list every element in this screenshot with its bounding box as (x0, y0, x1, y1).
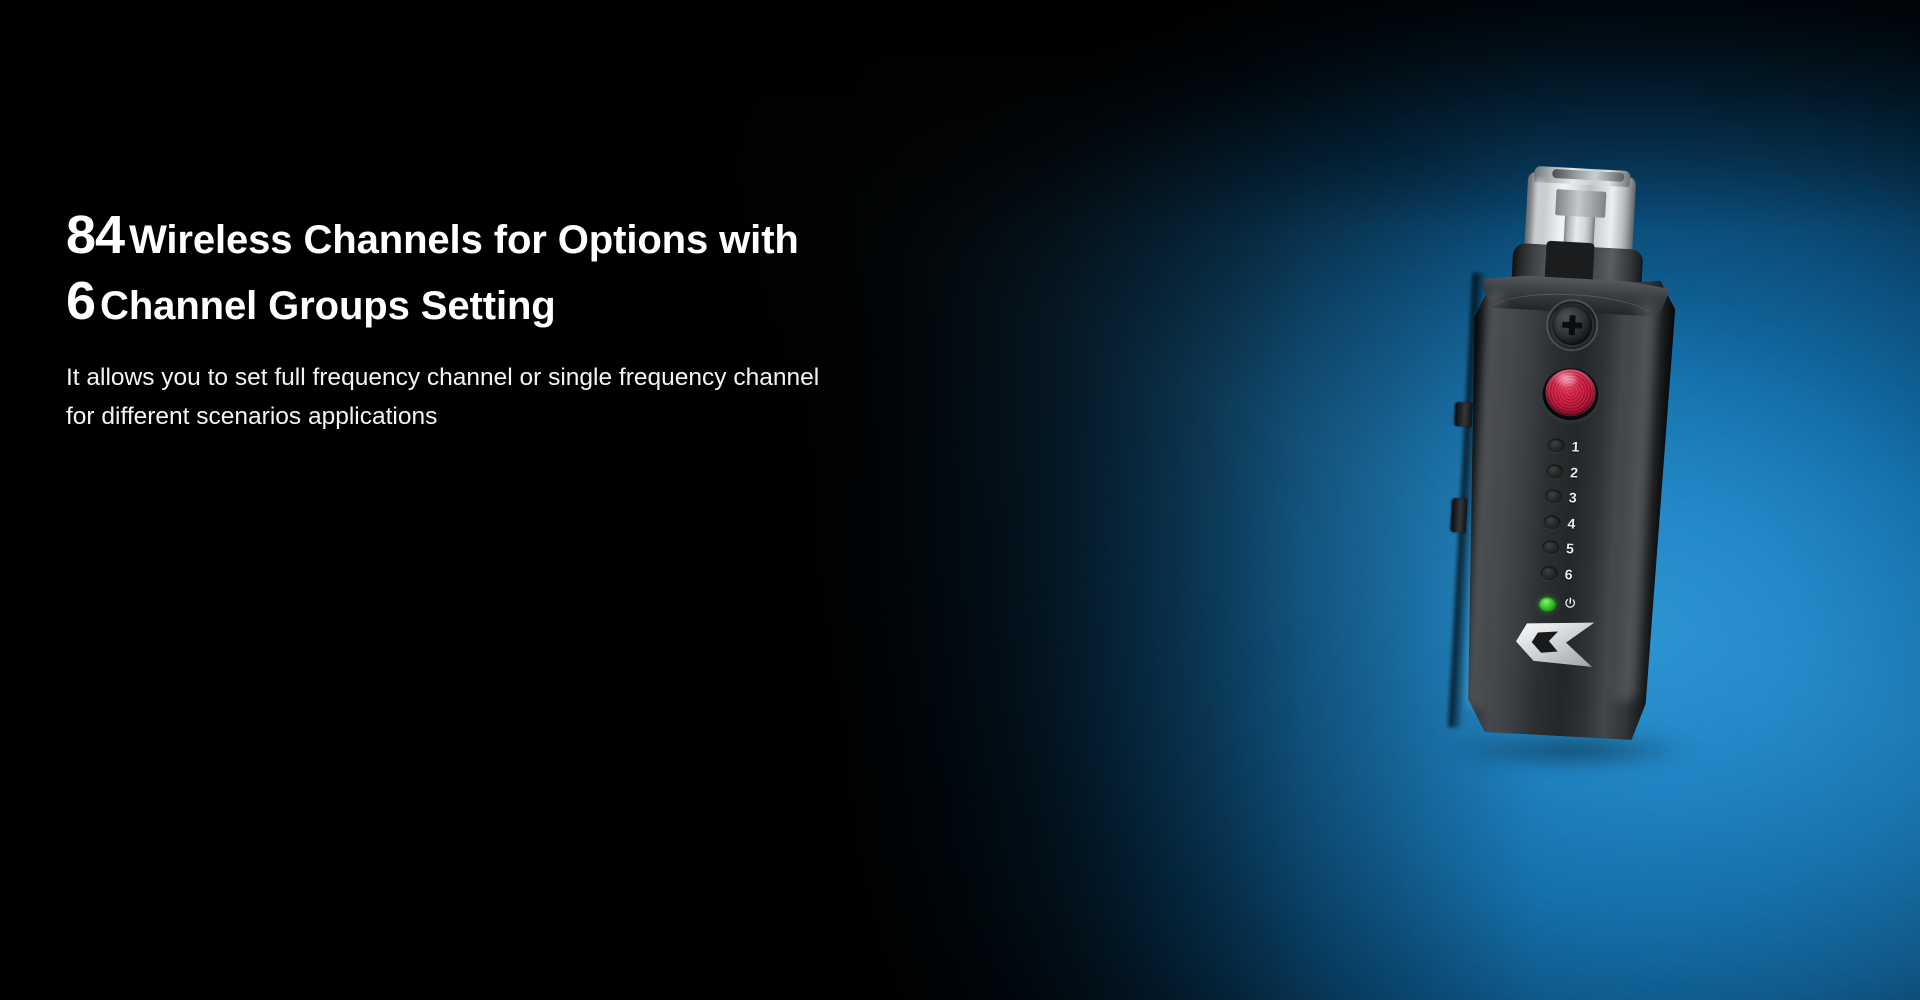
channel-led-5-indicator (1542, 540, 1560, 555)
led-row-6: 6 (1540, 562, 1631, 592)
headline-text-1: Wireless Channels for Options with (129, 218, 799, 262)
headline-line-2: 6Channel Groups Setting (66, 271, 1066, 336)
channel-led-3-indicator (1545, 489, 1563, 504)
channel-led-panel: 1 2 3 4 5 6 (1538, 435, 1638, 625)
headline-line-1: 84Wireless Channels for Options with (66, 205, 1066, 270)
subtext-block: It allows you to set full frequency chan… (66, 358, 1026, 436)
power-led-indicator (1539, 597, 1557, 612)
xlr-top-inner-ring (1552, 169, 1624, 182)
channel-led-6-label: 6 (1564, 564, 1573, 584)
channel-led-3-label: 3 (1568, 487, 1577, 507)
channel-led-5-label: 5 (1566, 538, 1575, 558)
wireless-transmitter-device: 1 2 3 4 5 6 (1439, 162, 1690, 753)
channel-led-4-indicator (1543, 514, 1561, 529)
headline-number-84: 84 (66, 205, 124, 265)
k-brand-logo-icon (1512, 615, 1601, 670)
promo-banner: 84Wireless Channels for Options with 6Ch… (0, 0, 1920, 1000)
headline-number-6: 6 (66, 271, 95, 331)
channel-led-2-label: 2 (1570, 462, 1579, 482)
subtext-line-2: for different scenarios applications (66, 397, 1026, 436)
copy-block: 84Wireless Channels for Options with 6Ch… (66, 205, 1066, 436)
headline-text-2: Channel Groups Setting (100, 284, 556, 328)
power-icon (1563, 596, 1578, 611)
channel-led-1-indicator (1547, 438, 1565, 453)
channel-led-6-indicator (1540, 565, 1558, 580)
side-button-lower[interactable] (1451, 498, 1468, 533)
channel-led-2-indicator (1546, 464, 1564, 479)
subtext-line-1: It allows you to set full frequency chan… (66, 358, 1026, 397)
side-button-upper[interactable] (1455, 402, 1473, 427)
channel-led-1-label: 1 (1571, 436, 1580, 456)
channel-led-4-label: 4 (1567, 513, 1576, 533)
